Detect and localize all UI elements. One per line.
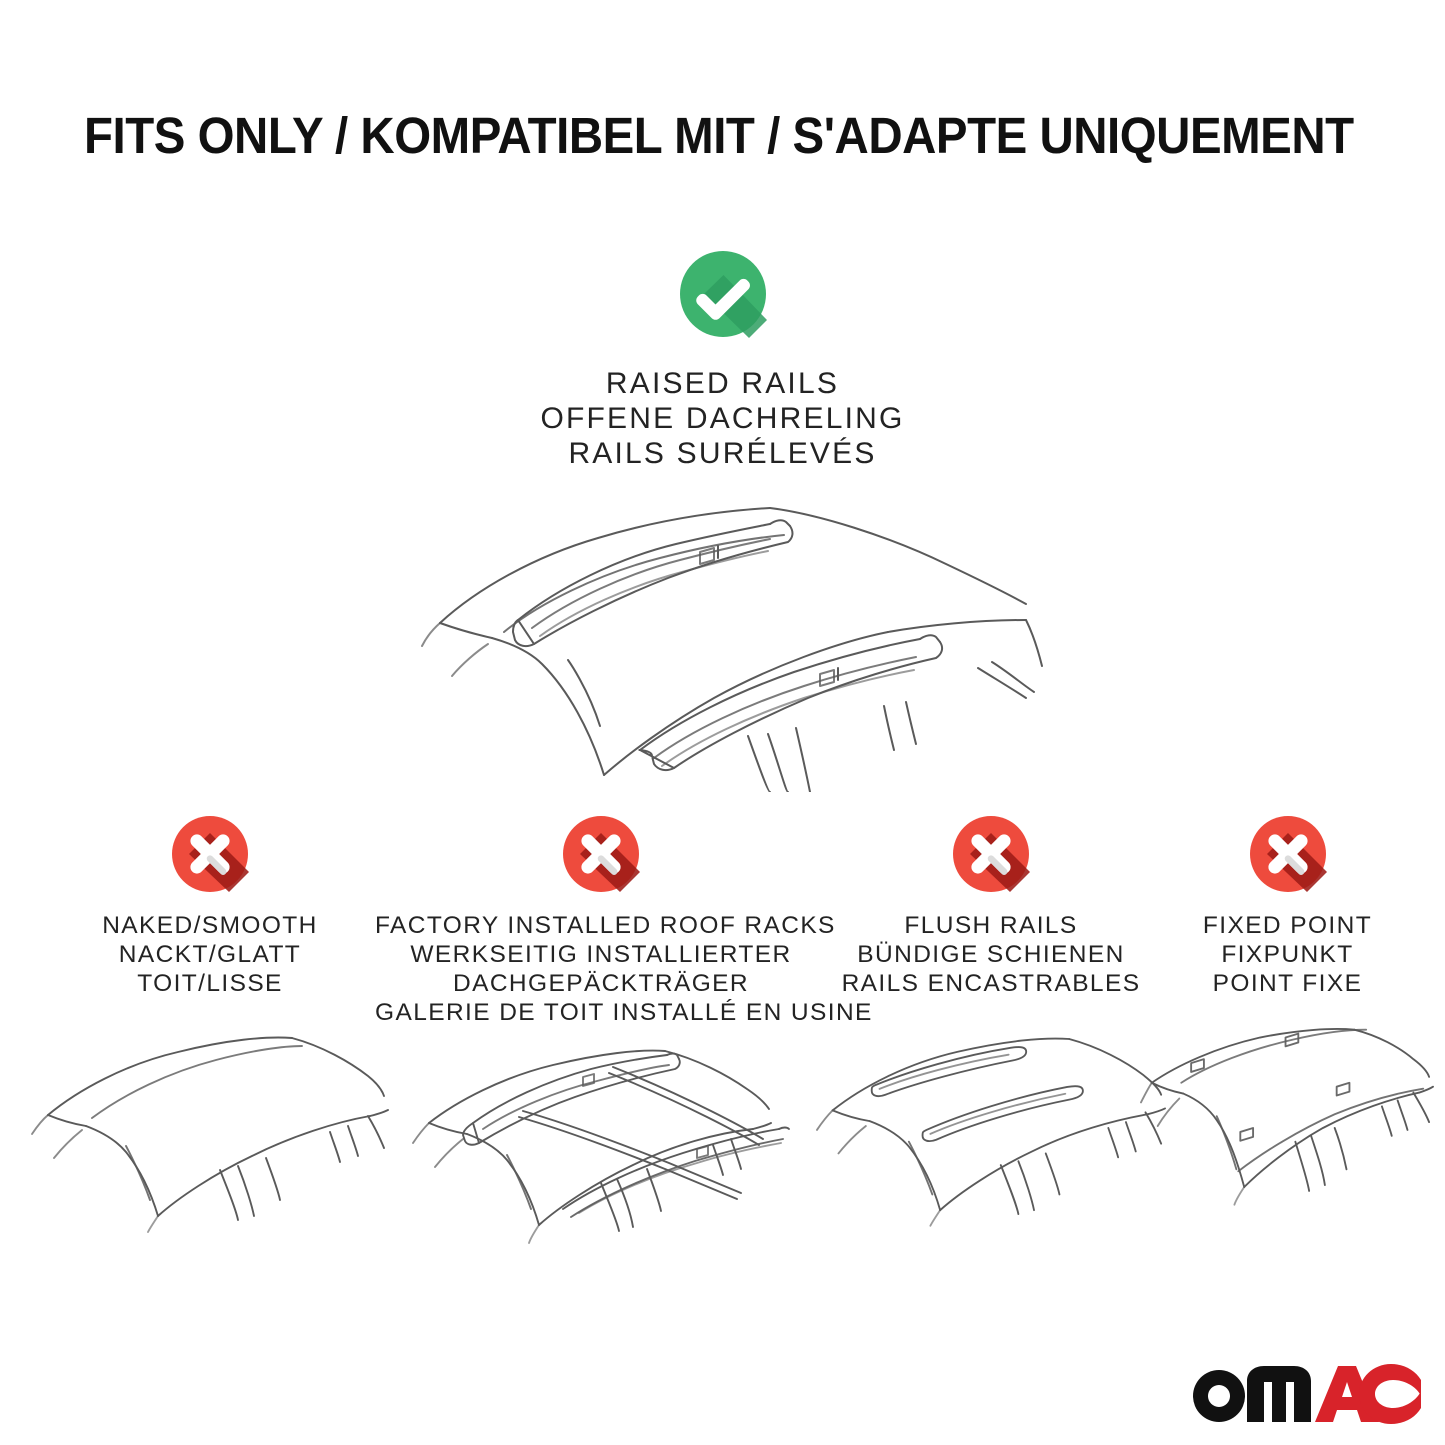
incompatible-item-fixed-point: FIXED POINT FIXPUNKT POINT FIXE xyxy=(1140,815,1435,1245)
omac-logo xyxy=(1186,1356,1421,1424)
compatible-section: RAISED RAILS OFFENE DACHRELING RAILS SUR… xyxy=(0,250,1445,471)
caption-line-de: BÜNDIGE SCHIENEN xyxy=(815,940,1167,969)
compatible-line-fr: RAILS SURÉLEVÉS xyxy=(0,436,1445,471)
red-x-circle-icon xyxy=(1249,815,1327,893)
caption-line-en: FACTORY INSTALLED ROOF RACKS xyxy=(375,911,827,940)
red-x-circle-icon xyxy=(171,815,249,893)
compatible-line-de: OFFENE DACHRELING xyxy=(0,401,1445,436)
incompatible-caption-fixed-point: FIXED POINT FIXPUNKT POINT FIXE xyxy=(1140,911,1435,998)
incompatible-item-naked-smooth: NAKED/SMOOTH NACKT/GLATT TOIT/LISSE xyxy=(20,815,400,1245)
caption-line-fr: GALERIE DE TOIT INSTALLÉ EN USINE xyxy=(375,998,827,1027)
caption-line-fr: TOIT/LISSE xyxy=(20,969,400,998)
caption-line-en: FLUSH RAILS xyxy=(815,911,1167,940)
red-x-circle-icon xyxy=(952,815,1030,893)
car-roof-with-flush-rails-illustration xyxy=(815,1020,1167,1245)
caption-line-de: FIXPUNKT xyxy=(1140,940,1435,969)
caption-line-fr: RAILS ENCASTRABLES xyxy=(815,969,1167,998)
caption-line-de-1: WERKSEITIG INSTALLIERTER xyxy=(375,940,827,969)
caption-line-fr: POINT FIXE xyxy=(1140,969,1435,998)
incompatible-caption-factory-roof-racks: FACTORY INSTALLED ROOF RACKS WERKSEITIG … xyxy=(375,911,827,1027)
incompatible-item-flush-rails: FLUSH RAILS BÜNDIGE SCHIENEN RAILS ENCAS… xyxy=(815,815,1167,1245)
caption-line-en: FIXED POINT xyxy=(1140,911,1435,940)
car-roof-with-raised-rails-illustration xyxy=(418,492,1048,792)
compatible-caption: RAISED RAILS OFFENE DACHRELING RAILS SUR… xyxy=(0,366,1445,471)
compatible-line-en: RAISED RAILS xyxy=(0,366,1445,401)
incompatible-section: NAKED/SMOOTH NACKT/GLATT TOIT/LISSE xyxy=(0,815,1445,1255)
page-title: FITS ONLY / KOMPATIBEL MIT / S'ADAPTE UN… xyxy=(84,106,1284,166)
car-roof-with-fixed-points-illustration xyxy=(1140,1020,1435,1245)
caption-line-de: NACKT/GLATT xyxy=(20,940,400,969)
red-x-circle-icon xyxy=(562,815,640,893)
caption-line-en: NAKED/SMOOTH xyxy=(20,911,400,940)
incompatible-caption-naked-smooth: NAKED/SMOOTH NACKT/GLATT TOIT/LISSE xyxy=(20,911,400,998)
car-roof-bare-illustration xyxy=(20,1020,400,1245)
caption-line-de-2: DACHGEPÄCKTRÄGER xyxy=(375,969,827,998)
car-roof-with-factory-crossbars-illustration xyxy=(375,1037,827,1262)
incompatible-item-factory-roof-racks: FACTORY INSTALLED ROOF RACKS WERKSEITIG … xyxy=(375,815,827,1262)
incompatible-caption-flush-rails: FLUSH RAILS BÜNDIGE SCHIENEN RAILS ENCAS… xyxy=(815,911,1167,998)
green-check-circle-icon xyxy=(679,250,767,338)
